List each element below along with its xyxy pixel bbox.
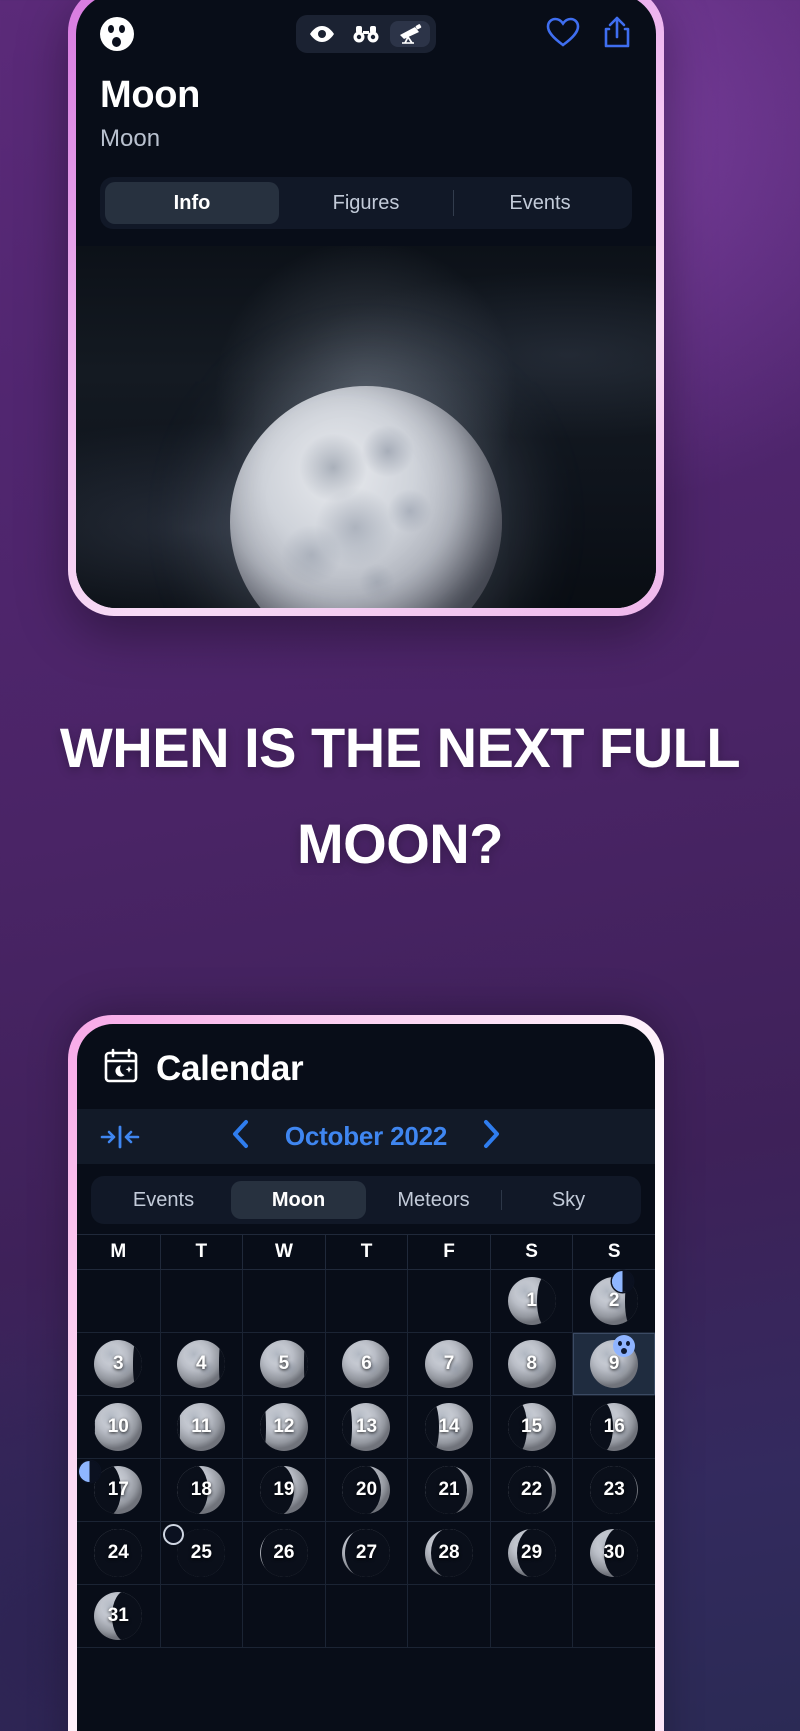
day-number: 18: [191, 1479, 212, 1501]
day-number: 30: [604, 1542, 625, 1564]
calendar-empty-cell: [572, 1585, 655, 1648]
day-number: 3: [113, 1353, 124, 1375]
detail-toolbar: [100, 12, 632, 56]
calendar-day-cell[interactable]: 11: [160, 1396, 243, 1459]
calendar-day-cell[interactable]: 13: [325, 1396, 408, 1459]
calendar-empty-cell: [490, 1585, 573, 1648]
full-moon-face-badge: [613, 1335, 635, 1357]
moon-phase-disk: 24: [94, 1529, 142, 1577]
moon-phase-disk: 12: [260, 1403, 308, 1451]
calendar-empty-cell: [242, 1585, 325, 1648]
calendar-card: Calendar October 2022: [68, 1015, 664, 1731]
moon-hero-image[interactable]: [76, 246, 656, 608]
moon-phase-disk: 10: [94, 1403, 142, 1451]
moon-phase-disk: 27: [342, 1529, 390, 1577]
calendar-empty-cell: [160, 1585, 243, 1648]
tab-events[interactable]: Events: [96, 1181, 231, 1219]
moon-phase-disk: 3: [94, 1340, 142, 1388]
day-number: 12: [273, 1416, 294, 1438]
day-number: 13: [356, 1416, 377, 1438]
moon-phase-disk: 13: [342, 1403, 390, 1451]
moon-phase-disk: 16: [590, 1403, 638, 1451]
calendar-day-cell[interactable]: 9: [572, 1333, 655, 1396]
moon-phase-disk: 15: [508, 1403, 556, 1451]
day-number: 10: [108, 1416, 129, 1438]
moon-phase-disk: 28: [425, 1529, 473, 1577]
day-number: 19: [273, 1479, 294, 1501]
calendar-day-cell[interactable]: 14: [407, 1396, 490, 1459]
day-number: 21: [438, 1479, 459, 1501]
moon-phase-disk: 1: [508, 1277, 556, 1325]
detail-header: Moon Moon Info Figures Events: [76, 0, 656, 229]
calendar-day-cell[interactable]: 17: [77, 1459, 160, 1522]
tab-sky[interactable]: Sky: [501, 1181, 636, 1219]
weekday-label: T: [325, 1235, 408, 1269]
moon-phase-disk: 21: [425, 1466, 473, 1514]
day-number: 24: [108, 1542, 129, 1564]
day-number: 7: [444, 1353, 455, 1375]
day-number: 26: [273, 1542, 294, 1564]
page-subtitle: Moon: [100, 125, 632, 153]
day-number: 2: [609, 1290, 620, 1312]
day-number: 14: [438, 1416, 459, 1438]
calendar-empty-cell: [242, 1270, 325, 1333]
chevron-right-icon[interactable]: [481, 1119, 501, 1154]
weekday-label: T: [160, 1235, 243, 1269]
calendar-day-cell[interactable]: 8: [490, 1333, 573, 1396]
heart-icon[interactable]: [546, 16, 580, 52]
calendar-day-cell[interactable]: 30: [572, 1522, 655, 1585]
calendar-day-cell[interactable]: 21: [407, 1459, 490, 1522]
calendar-header: Calendar: [77, 1024, 655, 1109]
calendar-day-cell[interactable]: 27: [325, 1522, 408, 1585]
day-number: 15: [521, 1416, 542, 1438]
tab-events[interactable]: Events: [453, 182, 627, 224]
new-moon-badge: [163, 1524, 184, 1545]
detail-actions: [546, 15, 632, 54]
weekday-header: M T W T F S S: [77, 1234, 655, 1270]
calendar-day-cell[interactable]: 15: [490, 1396, 573, 1459]
moon-phase-disk: 6: [342, 1340, 390, 1388]
calendar-day-cell[interactable]: 5: [242, 1333, 325, 1396]
moon-phase-disk: 5: [260, 1340, 308, 1388]
last-quarter-badge: [612, 1271, 633, 1292]
calendar-day-cell[interactable]: 31: [77, 1585, 160, 1648]
moon-phase-disk: 11: [177, 1403, 225, 1451]
calendar-day-cell[interactable]: 12: [242, 1396, 325, 1459]
moon-phase-disk: 20: [342, 1466, 390, 1514]
day-number: 11: [191, 1416, 211, 1438]
calendar-day-cell[interactable]: 24: [77, 1522, 160, 1585]
tab-meteors[interactable]: Meteors: [366, 1181, 501, 1219]
face-moon-icon: [100, 17, 134, 51]
day-number: 29: [521, 1542, 542, 1564]
day-number: 28: [438, 1542, 459, 1564]
day-number: 16: [604, 1416, 625, 1438]
tab-moon[interactable]: Moon: [231, 1181, 366, 1219]
moon-phase-disk: 30: [590, 1529, 638, 1577]
object-detail-screen: Moon Moon Info Figures Events: [76, 0, 656, 608]
day-number: 1: [526, 1290, 537, 1312]
day-number: 20: [356, 1479, 377, 1501]
moon-phase-disk: 26: [260, 1529, 308, 1577]
marketing-headline: WHEN IS THE NEXT FULL MOON?: [0, 700, 800, 893]
calendar-title: Calendar: [156, 1049, 303, 1089]
calendar-day-cell[interactable]: 26: [242, 1522, 325, 1585]
moon-phase-disk: 17: [94, 1466, 142, 1514]
calendar-grid: 1234567891011121314151617181920212223242…: [77, 1270, 655, 1648]
tab-info[interactable]: Info: [105, 182, 279, 224]
calendar-empty-cell: [325, 1585, 408, 1648]
calendar-day-cell[interactable]: 29: [490, 1522, 573, 1585]
calendar-day-cell[interactable]: 23: [572, 1459, 655, 1522]
telescope-icon[interactable]: [390, 21, 430, 47]
day-number: 22: [521, 1479, 542, 1501]
calendar-day-cell[interactable]: 22: [490, 1459, 573, 1522]
day-number: 5: [279, 1353, 290, 1375]
moon-phase-disk: 23: [590, 1466, 638, 1514]
weekday-label: F: [407, 1235, 490, 1269]
eye-icon[interactable]: [302, 21, 342, 47]
chevron-left-icon[interactable]: [231, 1119, 251, 1154]
view-mode-switch[interactable]: [296, 15, 436, 53]
moon-phase-disk: 29: [508, 1529, 556, 1577]
moon-phase-disk: 31: [94, 1592, 142, 1640]
calendar-empty-cell: [407, 1270, 490, 1333]
tab-figures[interactable]: Figures: [279, 182, 453, 224]
calendar-moon-icon: [103, 1048, 139, 1089]
calendar-day-cell[interactable]: 19: [242, 1459, 325, 1522]
detail-tabs: Info Figures Events: [100, 177, 632, 229]
weekday-label: S: [572, 1235, 655, 1269]
weekday-label: W: [242, 1235, 325, 1269]
calendar-day-cell[interactable]: 4: [160, 1333, 243, 1396]
day-number: 8: [526, 1353, 537, 1375]
share-icon[interactable]: [602, 15, 632, 54]
calendar-day-cell[interactable]: 10: [77, 1396, 160, 1459]
day-number: 31: [108, 1605, 129, 1627]
calendar-day-cell[interactable]: 16: [572, 1396, 655, 1459]
object-detail-card: Moon Moon Info Figures Events: [68, 0, 664, 616]
calendar-empty-cell: [407, 1585, 490, 1648]
day-number: 6: [361, 1353, 372, 1375]
binoculars-icon[interactable]: [346, 21, 386, 47]
moon-phase-disk: 18: [177, 1466, 225, 1514]
moon-phase-disk: 4: [177, 1340, 225, 1388]
calendar-tabs: Events Moon Meteors Sky: [91, 1176, 641, 1224]
calendar-empty-cell: [325, 1270, 408, 1333]
moon-phase-disk: 25: [177, 1529, 225, 1577]
calendar-day-cell[interactable]: 25: [160, 1522, 243, 1585]
full-moon-render: [230, 386, 502, 608]
day-number: 17: [108, 1479, 129, 1501]
month-navigation-bar: October 2022: [77, 1109, 655, 1164]
moon-phase-disk: 22: [508, 1466, 556, 1514]
collapse-icon[interactable]: [99, 1124, 155, 1150]
weekday-label: M: [77, 1235, 160, 1269]
calendar-empty-cell: [160, 1270, 243, 1333]
month-label[interactable]: October 2022: [285, 1121, 447, 1152]
calendar-day-cell[interactable]: 20: [325, 1459, 408, 1522]
calendar-day-cell[interactable]: 3: [77, 1333, 160, 1396]
day-number: 9: [609, 1353, 620, 1375]
day-number: 25: [191, 1542, 212, 1564]
calendar-day-cell[interactable]: 7: [407, 1333, 490, 1396]
calendar-day-cell[interactable]: 18: [160, 1459, 243, 1522]
moon-phase-disk: 19: [260, 1466, 308, 1514]
weekday-label: S: [490, 1235, 573, 1269]
last-quarter-badge: [79, 1461, 100, 1482]
month-nav: October 2022: [155, 1119, 577, 1154]
calendar-day-cell[interactable]: 6: [325, 1333, 408, 1396]
calendar-screen: Calendar October 2022: [77, 1024, 655, 1731]
moon-phase-disk: 7: [425, 1340, 473, 1388]
moon-phase-disk: 14: [425, 1403, 473, 1451]
day-number: 27: [356, 1542, 377, 1564]
calendar-empty-cell: [77, 1270, 160, 1333]
calendar-day-cell[interactable]: 2: [572, 1270, 655, 1333]
day-number: 23: [604, 1479, 625, 1501]
calendar-day-cell[interactable]: 1: [490, 1270, 573, 1333]
day-number: 4: [196, 1353, 207, 1375]
calendar-day-cell[interactable]: 28: [407, 1522, 490, 1585]
page-title: Moon: [100, 74, 632, 117]
moon-phase-disk: 8: [508, 1340, 556, 1388]
